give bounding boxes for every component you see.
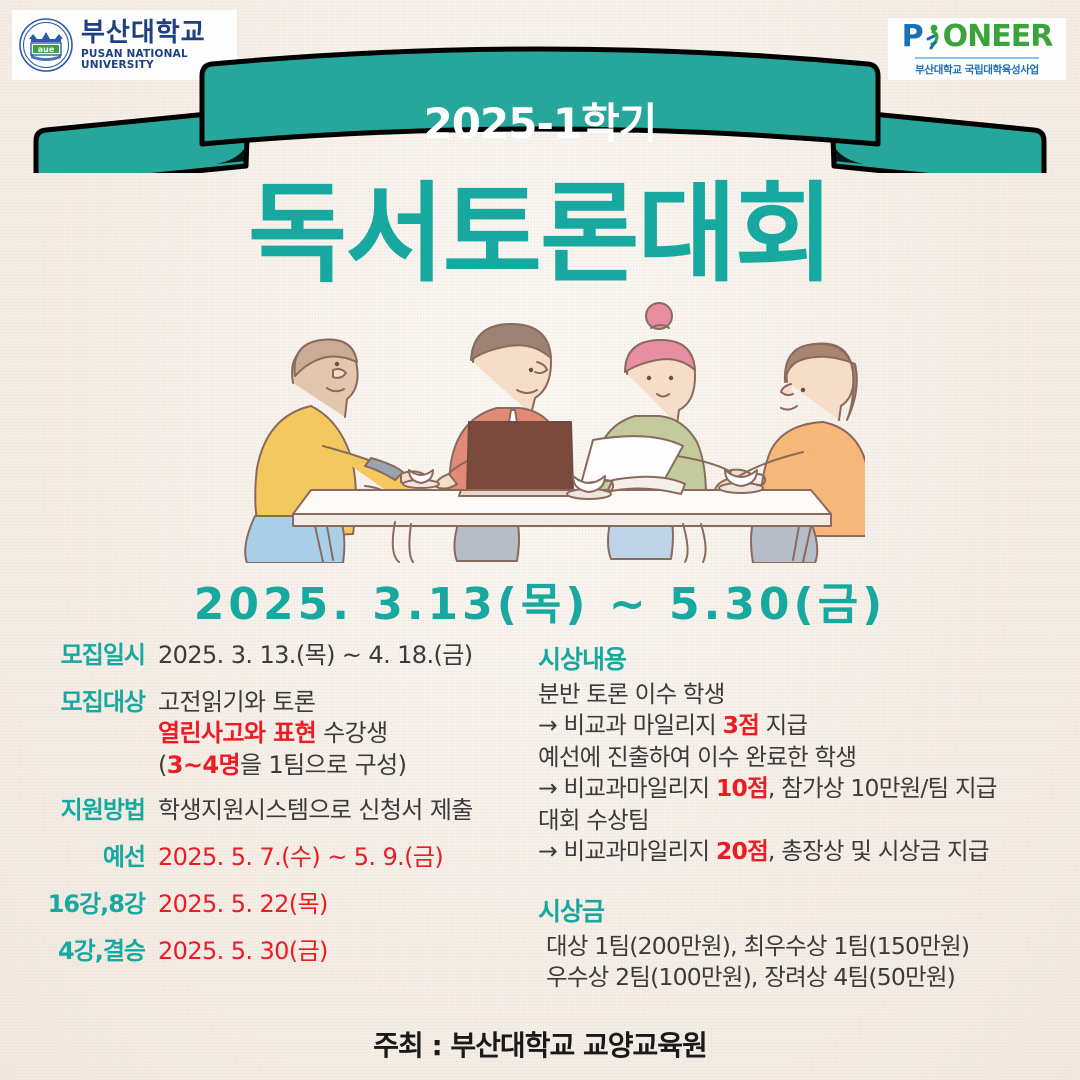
label-semifinal-final: 4강,결승 [30,936,158,967]
info-row-round16-8: 16강,8강 2025. 5. 22(목) [30,889,530,920]
event-date-range: 2025. 3.13(목) ~ 5.30(금) [0,568,1080,632]
label-apply-method: 지원방법 [30,795,158,826]
label-round16-8: 16강,8강 [30,889,158,920]
award-line-1: 분반 토론 이수 학생 [538,679,1080,710]
award-line-5: 대회 수상팀 [538,805,1080,836]
award-line-6: → 비교과마일리지 20점, 총장상 및 시상금 지급 [538,836,1080,867]
target-course-suffix: 수강생 [316,719,387,747]
value-recruit-target: 고전읽기와 토론 열린사고와 표현 수강생 (3~4명을 1팀으로 구성) [158,687,406,781]
right-info-column: 시상내용 분반 토론 이수 학생 → 비교과 마일리지 3점 지급 예선에 진출… [530,640,1080,1020]
award-text-4a: → 비교과마일리지 [538,774,716,802]
award-text-3: 예선에 진출하여 이수 완료한 학생 [538,743,856,771]
award-line-2: → 비교과 마일리지 3점 지급 [538,710,1080,741]
award-line-4: → 비교과마일리지 10점, 참가상 10만원/팀 지급 [538,773,1080,804]
target-line-1: 고전읽기와 토론 [158,687,406,718]
discussion-group-illustration [215,298,865,563]
target-line-3: (3~4명을 1팀으로 구성) [158,750,406,781]
semester-label: 2025-1학기 [0,90,1080,151]
award-line-3: 예선에 진출하여 이수 완료한 학생 [538,742,1080,773]
award-points-10: 10점 [716,774,768,802]
prize-line-2: 우수상 2팀(100만원), 장려상 4팀(50만원) [546,962,1080,993]
value-round16-8: 2025. 5. 22(목) [158,889,328,920]
award-text-4b: , 참가상 10만원/팀 지급 [768,774,997,802]
poster-canvas: aue 부산대학교 PUSAN NATIONAL UNIVERSITY P ON… [0,0,1080,1080]
team-size: 3~4명 [167,751,240,779]
target-line-2: 열린사고와 표현 수강생 [158,718,406,749]
info-row-preliminary: 예선 2025. 5. 7.(수) ~ 5. 9.(금) [30,842,530,873]
award-points-3: 3점 [723,711,759,739]
value-semifinal-final: 2025. 5. 30(금) [158,936,328,967]
value-apply-method: 학생지원시스템으로 신청서 제출 [158,795,473,826]
info-row-semifinal-final: 4강,결승 2025. 5. 30(금) [30,936,530,967]
target-course-name: 열린사고와 표현 [158,719,316,747]
label-recruit-date: 모집일시 [30,640,158,671]
label-preliminary: 예선 [30,842,158,873]
award-text-2a: → 비교과 마일리지 [538,711,723,739]
page-title: 독서토론대회 [0,178,1080,291]
organizer-footer: 주최 : 부산대학교 교양교육원 [0,1024,1080,1064]
section-spacer [538,868,1080,892]
semester-ribbon-banner: 2025-1학기 [0,38,1080,173]
award-text-6b: , 총장상 및 시상금 지급 [768,837,989,865]
award-text-6a: → 비교과마일리지 [538,837,716,865]
award-text-1: 분반 토론 이수 학생 [538,680,725,708]
information-columns: 모집일시 2025. 3. 13.(목) ~ 4. 18.(금) 모집대상 고전… [0,640,1080,1020]
team-paren-open: ( [158,751,167,779]
info-row-apply-method: 지원방법 학생지원시스템으로 신청서 제출 [30,795,530,826]
info-row-recruit-target: 모집대상 고전읽기와 토론 열린사고와 표현 수강생 (3~4명을 1팀으로 구… [30,687,530,781]
prize-money-body: 대상 1팀(200만원), 최우수상 1팀(150만원) 우수상 2팀(100만… [538,931,1080,994]
value-preliminary: 2025. 5. 7.(수) ~ 5. 9.(금) [158,842,443,873]
team-suffix: 을 1팀으로 구성) [240,751,406,779]
award-points-20: 20점 [716,837,768,865]
info-row-recruit-date: 모집일시 2025. 3. 13.(목) ~ 4. 18.(금) [30,640,530,671]
label-recruit-target: 모집대상 [30,687,158,718]
prize-line-1: 대상 1팀(200만원), 최우수상 1팀(150만원) [546,931,1080,962]
award-text-2b: 지급 [759,711,807,739]
award-details-body: 분반 토론 이수 학생 → 비교과 마일리지 3점 지급 예선에 진출하여 이수… [538,679,1080,868]
award-details-heading: 시상내용 [538,640,1080,676]
left-info-column: 모집일시 2025. 3. 13.(목) ~ 4. 18.(금) 모집대상 고전… [0,640,530,1020]
award-text-5: 대회 수상팀 [538,806,649,834]
prize-money-heading: 시상금 [538,892,1080,928]
value-recruit-date: 2025. 3. 13.(목) ~ 4. 18.(금) [158,640,473,671]
